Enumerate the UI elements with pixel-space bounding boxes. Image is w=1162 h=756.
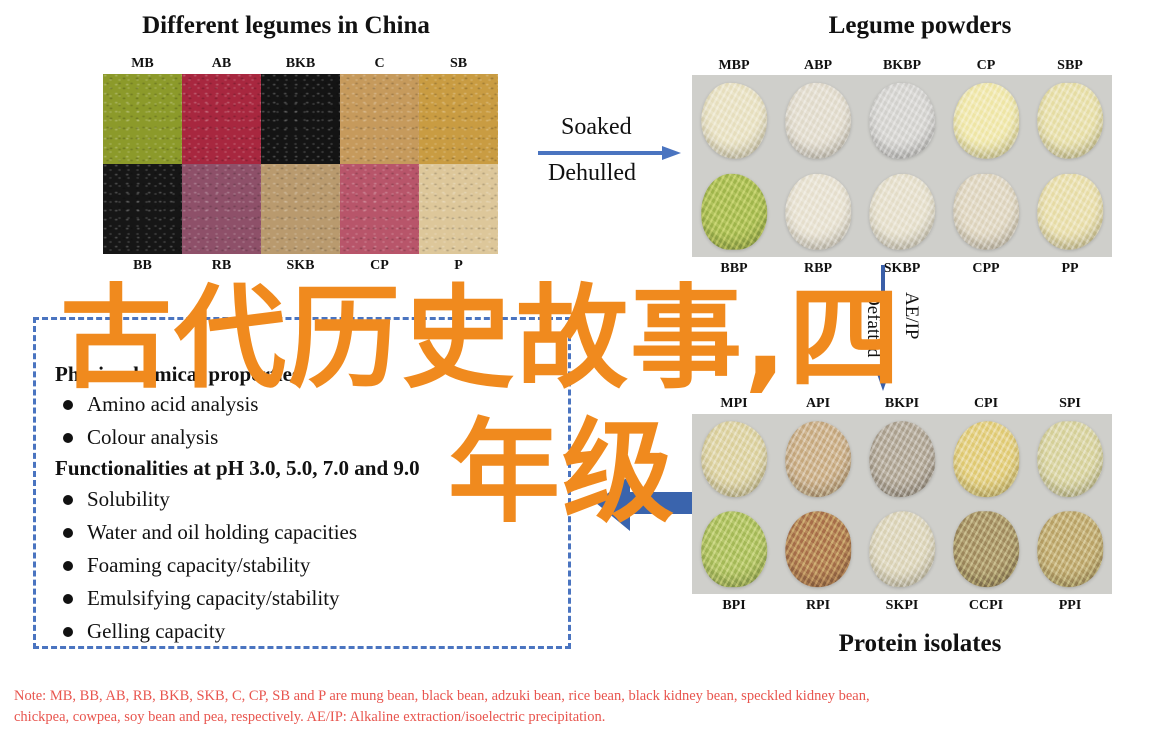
- isolate-cell-bkpi: [860, 414, 944, 504]
- isolate-blob: [953, 511, 1019, 587]
- legume-cell-sb: [419, 74, 498, 164]
- isolates-panel-title: Protein isolates: [700, 630, 1140, 658]
- bullet-text: Emulsifying capacity/stability: [87, 586, 340, 611]
- legume-label-cp: CP: [340, 258, 419, 274]
- isolate-cell-api: [776, 414, 860, 504]
- powder-cell-cp: [944, 75, 1028, 166]
- legume-texture: [103, 164, 182, 254]
- legume-texture: [261, 164, 340, 254]
- bullet-foaming: Foaming capacity/stability: [63, 553, 310, 578]
- isolate-blob: [1037, 421, 1103, 497]
- powder-label-mbp: MBP: [692, 58, 776, 74]
- isolate-cell-ccpi: [944, 504, 1028, 594]
- powder-blob: [869, 173, 935, 249]
- back-left-arrow-icon: [596, 475, 692, 535]
- legume-label-p: P: [419, 258, 498, 274]
- isolate-label-spi: SPI: [1028, 396, 1112, 412]
- legume-cell-ab: [182, 74, 261, 164]
- powder-label-pp: PP: [1028, 261, 1112, 277]
- isolate-blob: [869, 511, 935, 587]
- isolate-cell-skpi: [860, 504, 944, 594]
- legumes-top-labels: MB AB BKB C SB: [103, 56, 498, 72]
- powders-photo-grid: [692, 75, 1112, 257]
- bullet-text: Foaming capacity/stability: [87, 553, 310, 578]
- legume-label-mb: MB: [103, 56, 182, 72]
- bullet-dot-icon: [63, 400, 73, 410]
- powder-blob: [785, 173, 851, 249]
- powder-label-bbp: BBP: [692, 261, 776, 277]
- isolate-cell-rpi: [776, 504, 860, 594]
- powder-blob: [953, 173, 1019, 249]
- isolate-cell-bpi: [692, 504, 776, 594]
- isolate-label-mpi: MPI: [692, 396, 776, 412]
- isolate-cell-spi: [1028, 414, 1112, 504]
- bullet-amino-acid: Amino acid analysis: [63, 392, 258, 417]
- isolate-blob: [785, 511, 851, 587]
- legume-label-rb: RB: [182, 258, 261, 274]
- isolate-blob: [785, 421, 851, 497]
- legume-label-bkb: BKB: [261, 56, 340, 72]
- legume-cell-mb: [103, 74, 182, 164]
- powder-cell-cpp: [944, 166, 1028, 257]
- powder-label-cpp: CPP: [944, 261, 1028, 277]
- isolate-label-ccpi: CCPI: [944, 598, 1028, 614]
- legumes-photo-grid: [103, 74, 498, 254]
- legume-texture: [340, 74, 419, 164]
- aeip-label: AE/IP: [900, 292, 922, 340]
- powder-label-abp: ABP: [776, 58, 860, 74]
- isolate-blob: [869, 421, 935, 497]
- note-line-2: chickpea, cowpea, soy bean and pea, resp…: [14, 707, 1154, 728]
- bullet-solubility: Solubility: [63, 487, 170, 512]
- figure-canvas: Different legumes in China MB AB BKB C S…: [0, 0, 1162, 756]
- legume-texture: [103, 74, 182, 164]
- isolate-label-bkpi: BKPI: [860, 396, 944, 412]
- bullet-dot-icon: [63, 627, 73, 637]
- powder-label-skbp: SKBP: [860, 261, 944, 277]
- note-line-1: Note: MB, BB, AB, RB, BKB, SKB, C, CP, S…: [14, 686, 1154, 707]
- isolate-label-cpi: CPI: [944, 396, 1028, 412]
- powder-blob: [1037, 82, 1103, 158]
- legume-cell-skb: [261, 164, 340, 254]
- powder-label-bkbp: BKBP: [860, 58, 944, 74]
- isolate-label-bpi: BPI: [692, 598, 776, 614]
- powder-cell-mbp: [692, 75, 776, 166]
- legume-texture: [419, 74, 498, 164]
- isolate-cell-cpi: [944, 414, 1028, 504]
- isolate-blob: [953, 421, 1019, 497]
- legume-cell-c: [340, 74, 419, 164]
- isolates-bottom-labels: BPI RPI SKPI CCPI PPI: [692, 598, 1112, 614]
- bullet-text: Colour analysis: [87, 425, 218, 450]
- bullet-dot-icon: [63, 561, 73, 571]
- powder-blob: [1037, 173, 1103, 249]
- powders-bottom-labels: BBP RBP SKBP CPP PP: [692, 261, 1112, 277]
- bullet-dot-icon: [63, 433, 73, 443]
- powder-cell-abp: [776, 75, 860, 166]
- legume-label-c: C: [340, 56, 419, 72]
- powder-blob: [953, 82, 1019, 158]
- bullet-text: Solubility: [87, 487, 170, 512]
- legumes-bottom-labels: BB RB SKB CP P: [103, 258, 498, 274]
- bullet-text: Gelling capacity: [87, 619, 225, 644]
- bullet-dot-icon: [63, 528, 73, 538]
- bullet-text: Amino acid analysis: [87, 392, 258, 417]
- powder-cell-bbp: [692, 166, 776, 257]
- legume-cell-bb: [103, 164, 182, 254]
- legume-cell-cp: [340, 164, 419, 254]
- isolate-label-api: API: [776, 396, 860, 412]
- soaked-arrow-top-label: Soaked: [561, 114, 632, 141]
- legumes-panel-title: Different legumes in China: [86, 12, 486, 40]
- powder-blob: [701, 82, 767, 158]
- powders-panel-title: Legume powders: [700, 12, 1140, 40]
- legume-texture: [182, 74, 261, 164]
- isolate-blob: [701, 511, 767, 587]
- legume-label-bb: BB: [103, 258, 182, 274]
- soaked-dehulled-arrow-icon: [536, 145, 681, 161]
- isolate-blob: [1037, 511, 1103, 587]
- powder-cell-sbp: [1028, 75, 1112, 166]
- isolate-cell-mpi: [692, 414, 776, 504]
- legume-texture: [419, 164, 498, 254]
- legume-cell-p: [419, 164, 498, 254]
- powder-cell-skbp: [860, 166, 944, 257]
- bullet-dot-icon: [63, 594, 73, 604]
- legume-cell-bkb: [261, 74, 340, 164]
- bullet-colour: Colour analysis: [63, 425, 218, 450]
- powder-label-cp: CP: [944, 58, 1028, 74]
- bullet-water-oil: Water and oil holding capacities: [63, 520, 357, 545]
- physicochemical-heading: Physicochemical properties: [55, 362, 300, 387]
- powder-cell-pp: [1028, 166, 1112, 257]
- functionalities-heading: Functionalities at pH 3.0, 5.0, 7.0 and …: [55, 456, 420, 481]
- legume-cell-rb: [182, 164, 261, 254]
- defatted-aeip-arrow-icon: [875, 263, 891, 391]
- isolates-photo-grid: [692, 414, 1112, 594]
- powder-blob: [869, 82, 935, 158]
- isolate-blob: [701, 421, 767, 497]
- legume-label-ab: AB: [182, 56, 261, 72]
- bullet-dot-icon: [63, 495, 73, 505]
- powder-label-rbp: RBP: [776, 261, 860, 277]
- isolate-cell-ppi: [1028, 504, 1112, 594]
- powder-blob: [701, 173, 767, 249]
- powder-blob: [785, 82, 851, 158]
- dehulled-arrow-bottom-label: Dehulled: [548, 160, 636, 187]
- legume-texture: [261, 74, 340, 164]
- powder-label-sbp: SBP: [1028, 58, 1112, 74]
- bullet-text: Water and oil holding capacities: [87, 520, 357, 545]
- bullet-gelling: Gelling capacity: [63, 619, 225, 644]
- powder-cell-rbp: [776, 166, 860, 257]
- powders-top-labels: MBP ABP BKBP CP SBP: [692, 58, 1112, 74]
- isolate-label-ppi: PPI: [1028, 598, 1112, 614]
- bullet-emulsifying: Emulsifying capacity/stability: [63, 586, 340, 611]
- legume-texture: [182, 164, 261, 254]
- legume-label-sb: SB: [419, 56, 498, 72]
- isolates-top-labels: MPI API BKPI CPI SPI: [692, 396, 1112, 412]
- isolate-label-skpi: SKPI: [860, 598, 944, 614]
- isolate-label-rpi: RPI: [776, 598, 860, 614]
- legume-texture: [340, 164, 419, 254]
- powder-cell-bkbp: [860, 75, 944, 166]
- legume-label-skb: SKB: [261, 258, 340, 274]
